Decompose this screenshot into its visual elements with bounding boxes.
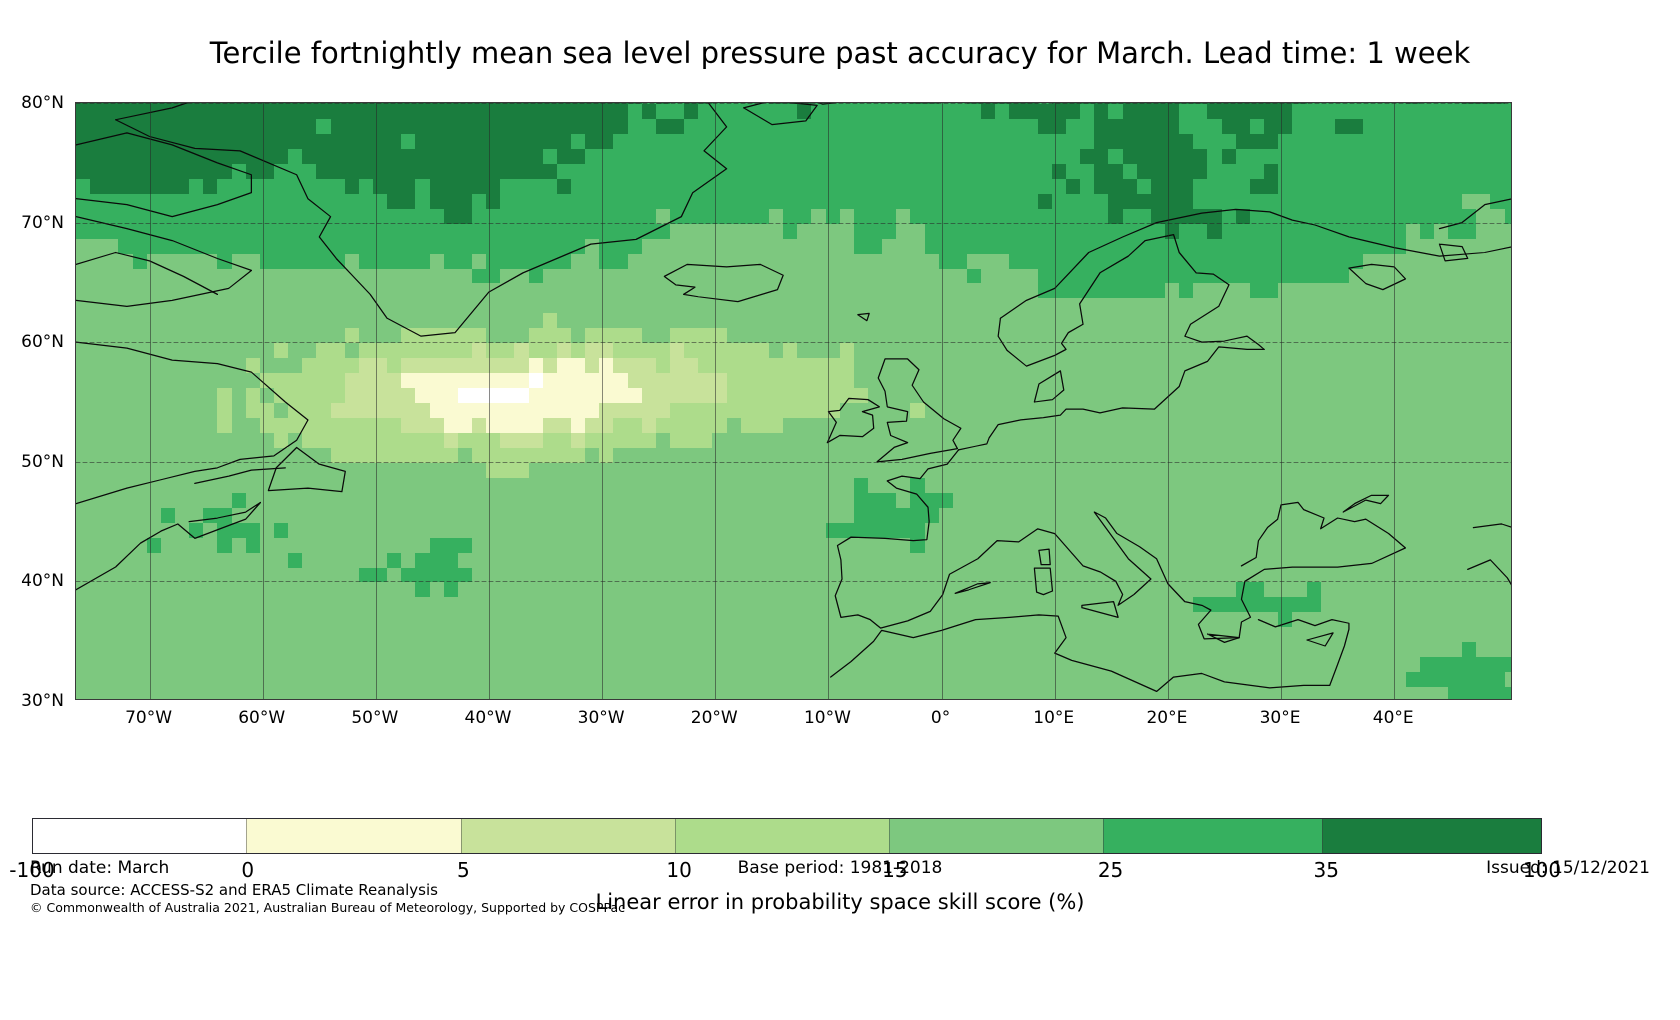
skill-score-heatmap: [76, 103, 1512, 700]
colorbar-segment-0: [33, 819, 246, 853]
colorbar-segment-2: [461, 819, 675, 853]
x-tick-10: 30°E: [1235, 708, 1325, 728]
copyright-text: © Commonwealth of Australia 2021, Austra…: [30, 900, 625, 915]
x-tick-0: 70°W: [104, 708, 194, 728]
colorbar: [32, 818, 1542, 854]
x-tick-1: 60°W: [217, 708, 307, 728]
y-tick-60: 60°N: [0, 332, 64, 352]
map-axes: [75, 102, 1512, 700]
figure-root: Tercile fortnightly mean sea level press…: [0, 0, 1680, 1020]
x-tick-8: 10°E: [1009, 708, 1099, 728]
data-source-text: Data source: ACCESS-S2 and ERA5 Climate …: [30, 881, 438, 899]
x-tick-11: 40°E: [1348, 708, 1438, 728]
x-tick-9: 20°E: [1122, 708, 1212, 728]
x-tick-4: 30°W: [556, 708, 646, 728]
y-tick-80: 80°N: [0, 93, 64, 113]
colorbar-segment-5: [1103, 819, 1322, 853]
colorbar-segment-1: [246, 819, 460, 853]
x-tick-6: 10°W: [782, 708, 872, 728]
x-tick-2: 50°W: [330, 708, 420, 728]
colorbar-segment-3: [675, 819, 889, 853]
x-tick-3: 40°W: [443, 708, 533, 728]
y-tick-30: 30°N: [0, 691, 64, 711]
colorbar-segment-4: [889, 819, 1103, 853]
y-tick-50: 50°N: [0, 452, 64, 472]
x-tick-7: 0°: [896, 708, 986, 728]
page-title: Tercile fortnightly mean sea level press…: [0, 36, 1680, 70]
y-tick-70: 70°N: [0, 213, 64, 233]
base-period-text: Base period: 1981-2018: [0, 858, 1680, 878]
colorbar-segment-6: [1322, 819, 1541, 853]
y-tick-40: 40°N: [0, 571, 64, 591]
issued-date-text: Issued: 15/12/2021: [1486, 858, 1650, 878]
x-tick-5: 20°W: [669, 708, 759, 728]
